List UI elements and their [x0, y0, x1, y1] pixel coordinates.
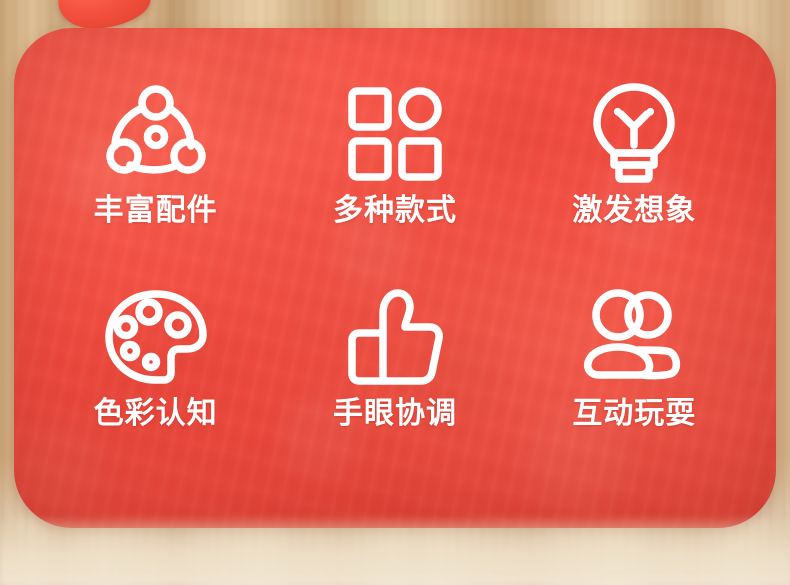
feature-item-hand-eye-coordination[interactable]: 手眼协调: [275, 285, 514, 488]
lightbulb-icon: [592, 82, 676, 186]
grid-shapes-icon: [347, 82, 443, 186]
two-people-group-icon: [582, 285, 686, 389]
feature-item-rich-accessories[interactable]: 丰富配件: [36, 82, 275, 285]
feature-item-multiple-styles[interactable]: 多种款式: [275, 82, 514, 285]
feature-label: 多种款式: [333, 196, 457, 226]
product-feature-banner: 丰富配件 多种款式: [0, 0, 790, 585]
feature-label: 色彩认知: [94, 399, 218, 429]
feature-grid: 丰富配件 多种款式: [14, 28, 776, 528]
feature-item-interactive-play[interactable]: 互动玩耍: [515, 285, 754, 488]
paint-palette-icon: [104, 285, 208, 389]
feature-label: 互动玩耍: [572, 399, 696, 429]
feature-label: 激发想象: [572, 196, 696, 226]
feature-card: 丰富配件 多种款式: [14, 28, 776, 528]
feature-label: 手眼协调: [333, 399, 457, 429]
molecule-connected-circles-icon: [104, 82, 208, 186]
thumbs-up-icon: [345, 285, 445, 389]
feature-label: 丰富配件: [94, 196, 218, 226]
feature-item-inspire-imagination[interactable]: 激发想象: [515, 82, 754, 285]
blurred-foreground-strip: [0, 515, 790, 585]
feature-item-color-recognition[interactable]: 色彩认知: [36, 285, 275, 488]
